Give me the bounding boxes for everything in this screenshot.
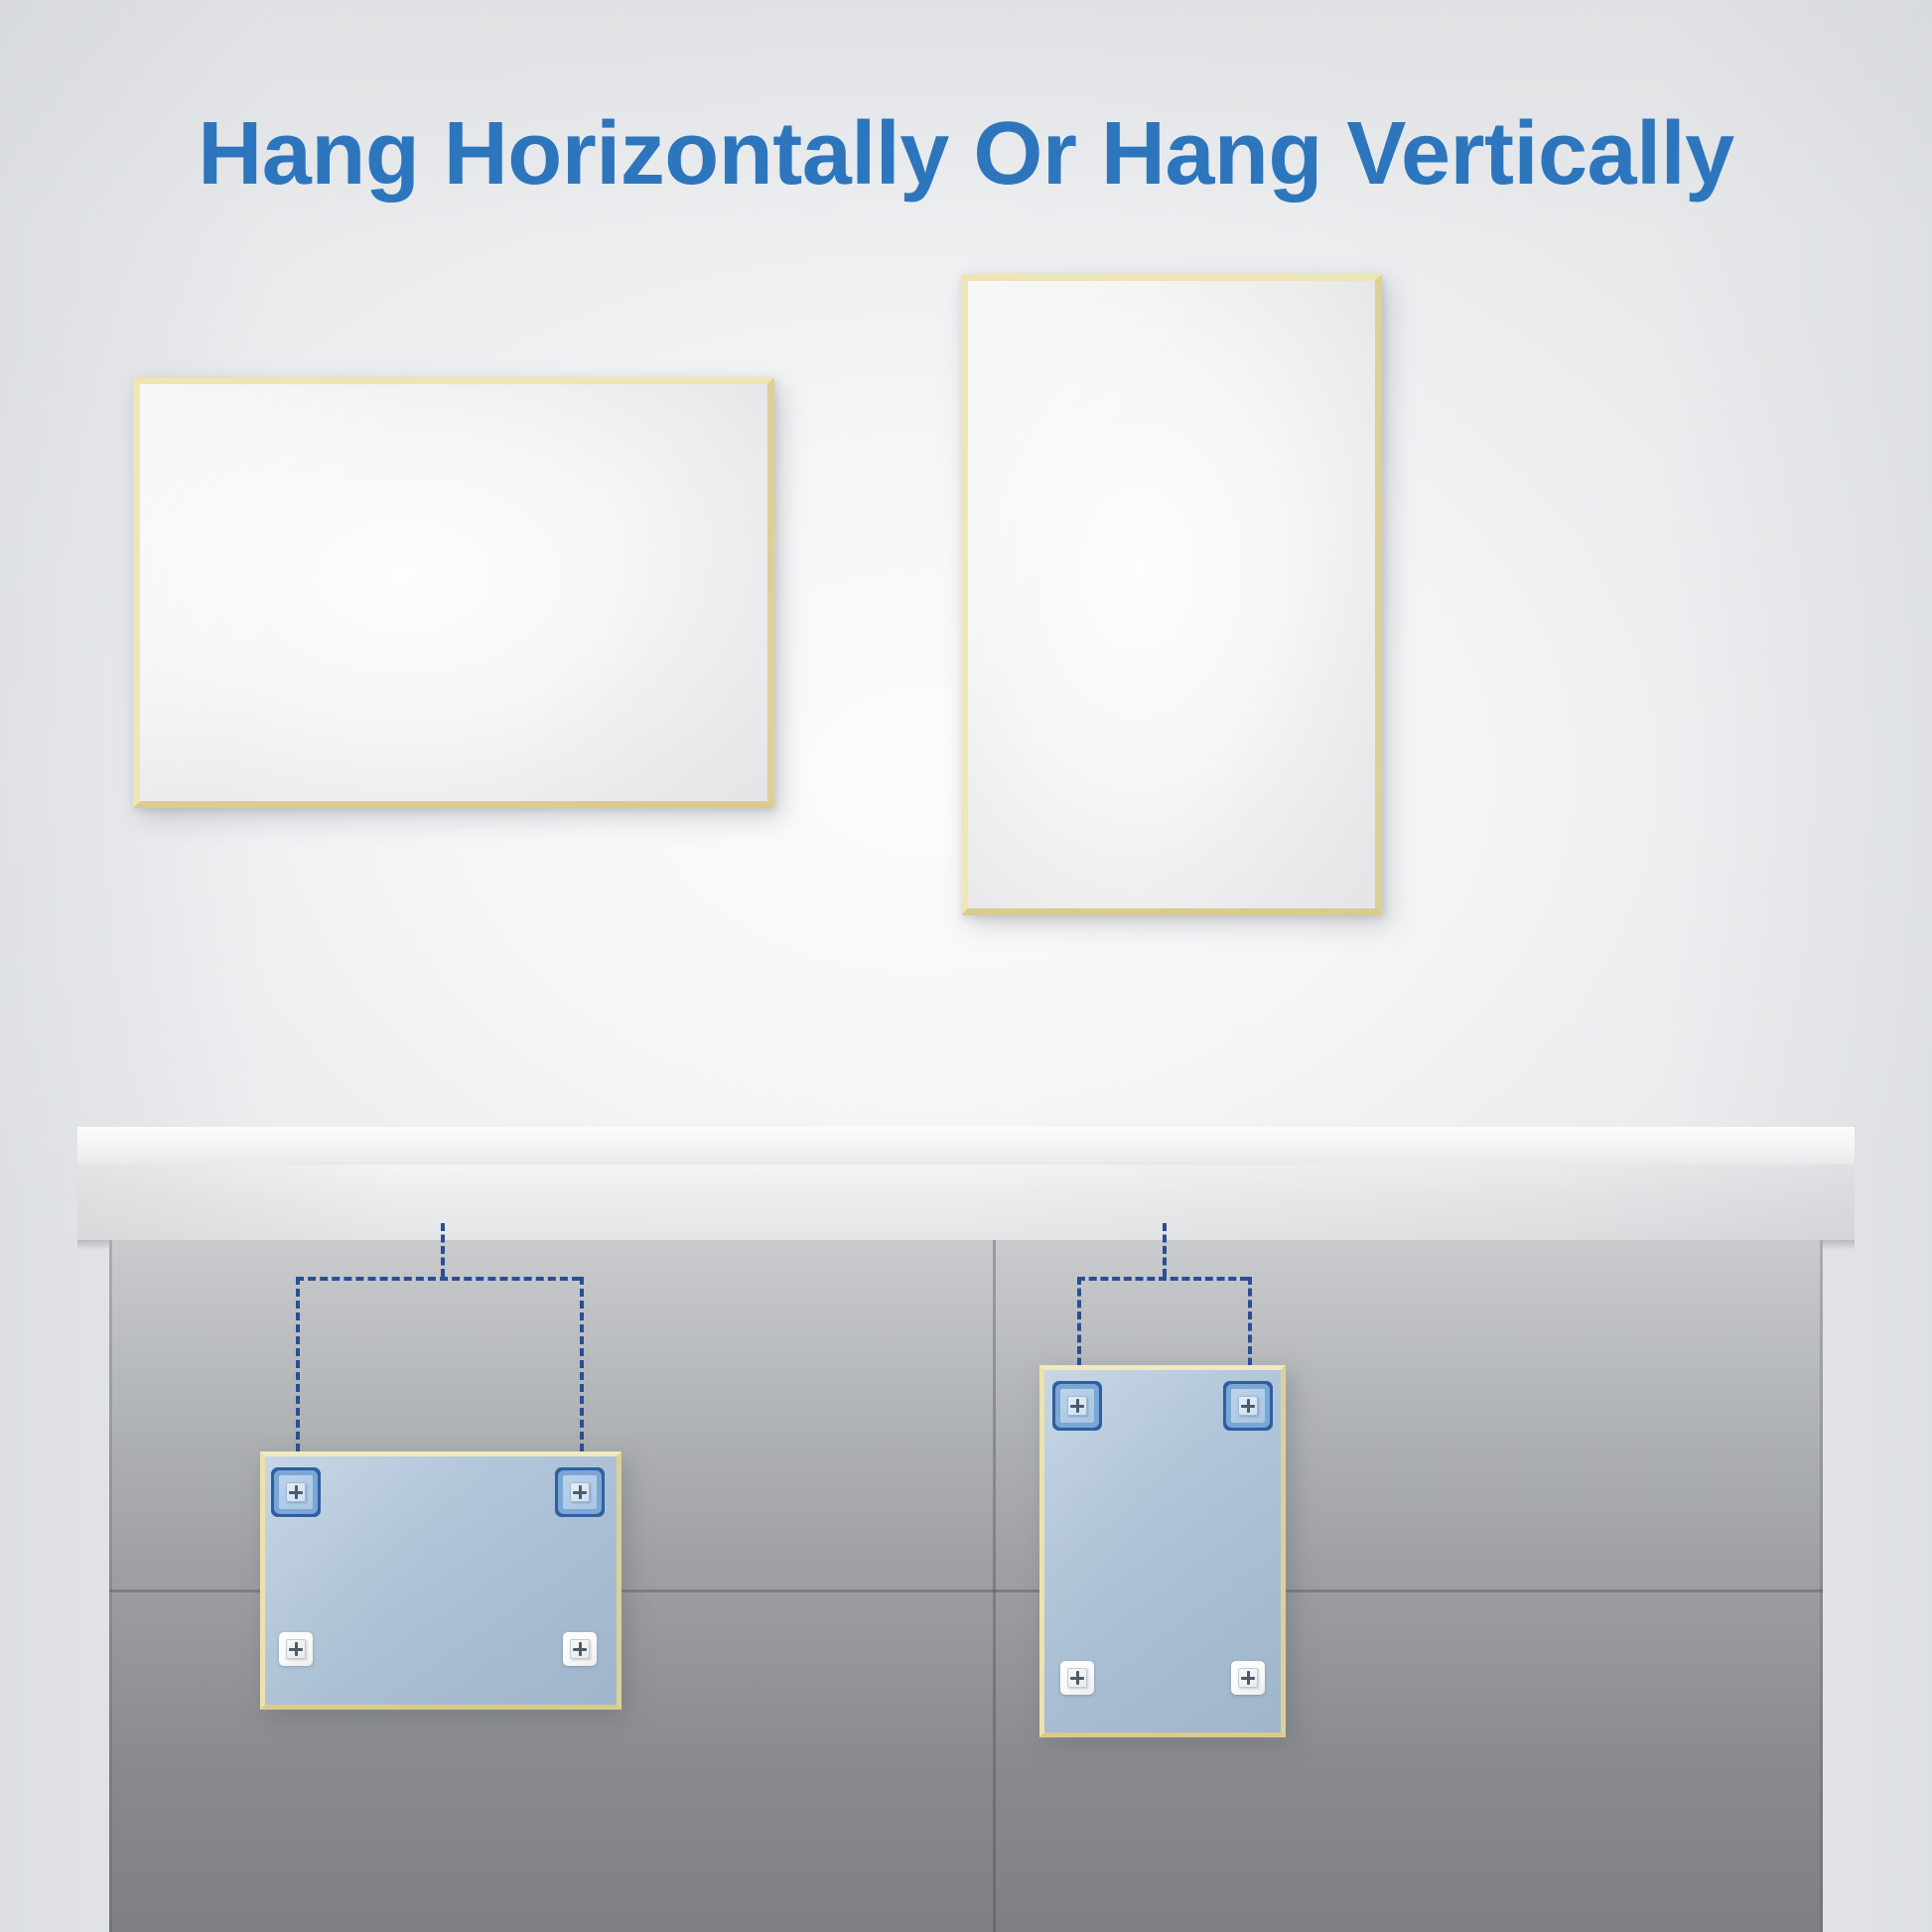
leader-drop-horizontal-left xyxy=(296,1277,300,1475)
mirror-frame-vertical xyxy=(961,274,1382,915)
page-title: Hang Horizontally Or Hang Vertically xyxy=(0,103,1932,206)
leader-stem-vertical xyxy=(1163,1223,1167,1277)
countertop-surface xyxy=(77,1127,1855,1165)
screw-icon xyxy=(286,1639,306,1659)
wall-mirror-vertical xyxy=(961,274,1382,915)
leader-bar-vertical xyxy=(1077,1277,1248,1281)
leader-drop-horizontal-right xyxy=(580,1277,584,1475)
leader-bar-horizontal xyxy=(296,1277,580,1281)
mount-bracket-top-right[interactable] xyxy=(1231,1389,1265,1423)
wall-mirror-horizontal xyxy=(133,377,774,808)
mirror-frame-horizontal xyxy=(133,377,774,808)
screw-icon xyxy=(1238,1668,1258,1688)
screw-icon xyxy=(570,1639,590,1659)
mount-bracket-bottom-right[interactable] xyxy=(1231,1661,1265,1695)
screw-icon xyxy=(1067,1396,1087,1416)
cabinet-edge-left xyxy=(109,1240,112,1932)
infographic-scene: Hang Horizontally Or Hang Vertically Hor… xyxy=(0,0,1932,1932)
mount-bracket-top-left[interactable] xyxy=(1060,1389,1094,1423)
cabinet-seam-vertical xyxy=(993,1240,996,1932)
screw-icon xyxy=(570,1482,590,1502)
countertop-edge xyxy=(77,1165,1855,1240)
screw-icon xyxy=(1238,1396,1258,1416)
mirror-back-vertical xyxy=(1039,1365,1286,1737)
mount-bracket-top-left[interactable] xyxy=(279,1475,313,1509)
leader-stem-horizontal xyxy=(441,1223,445,1277)
screw-icon xyxy=(1067,1668,1087,1688)
mount-bracket-bottom-left[interactable] xyxy=(1060,1661,1094,1695)
cabinet-edge-right xyxy=(1820,1240,1823,1932)
mount-bracket-bottom-left[interactable] xyxy=(279,1632,313,1666)
mirror-back-horizontal xyxy=(260,1451,621,1710)
mount-bracket-top-right[interactable] xyxy=(563,1475,597,1509)
screw-icon xyxy=(286,1482,306,1502)
mount-bracket-bottom-right[interactable] xyxy=(563,1632,597,1666)
